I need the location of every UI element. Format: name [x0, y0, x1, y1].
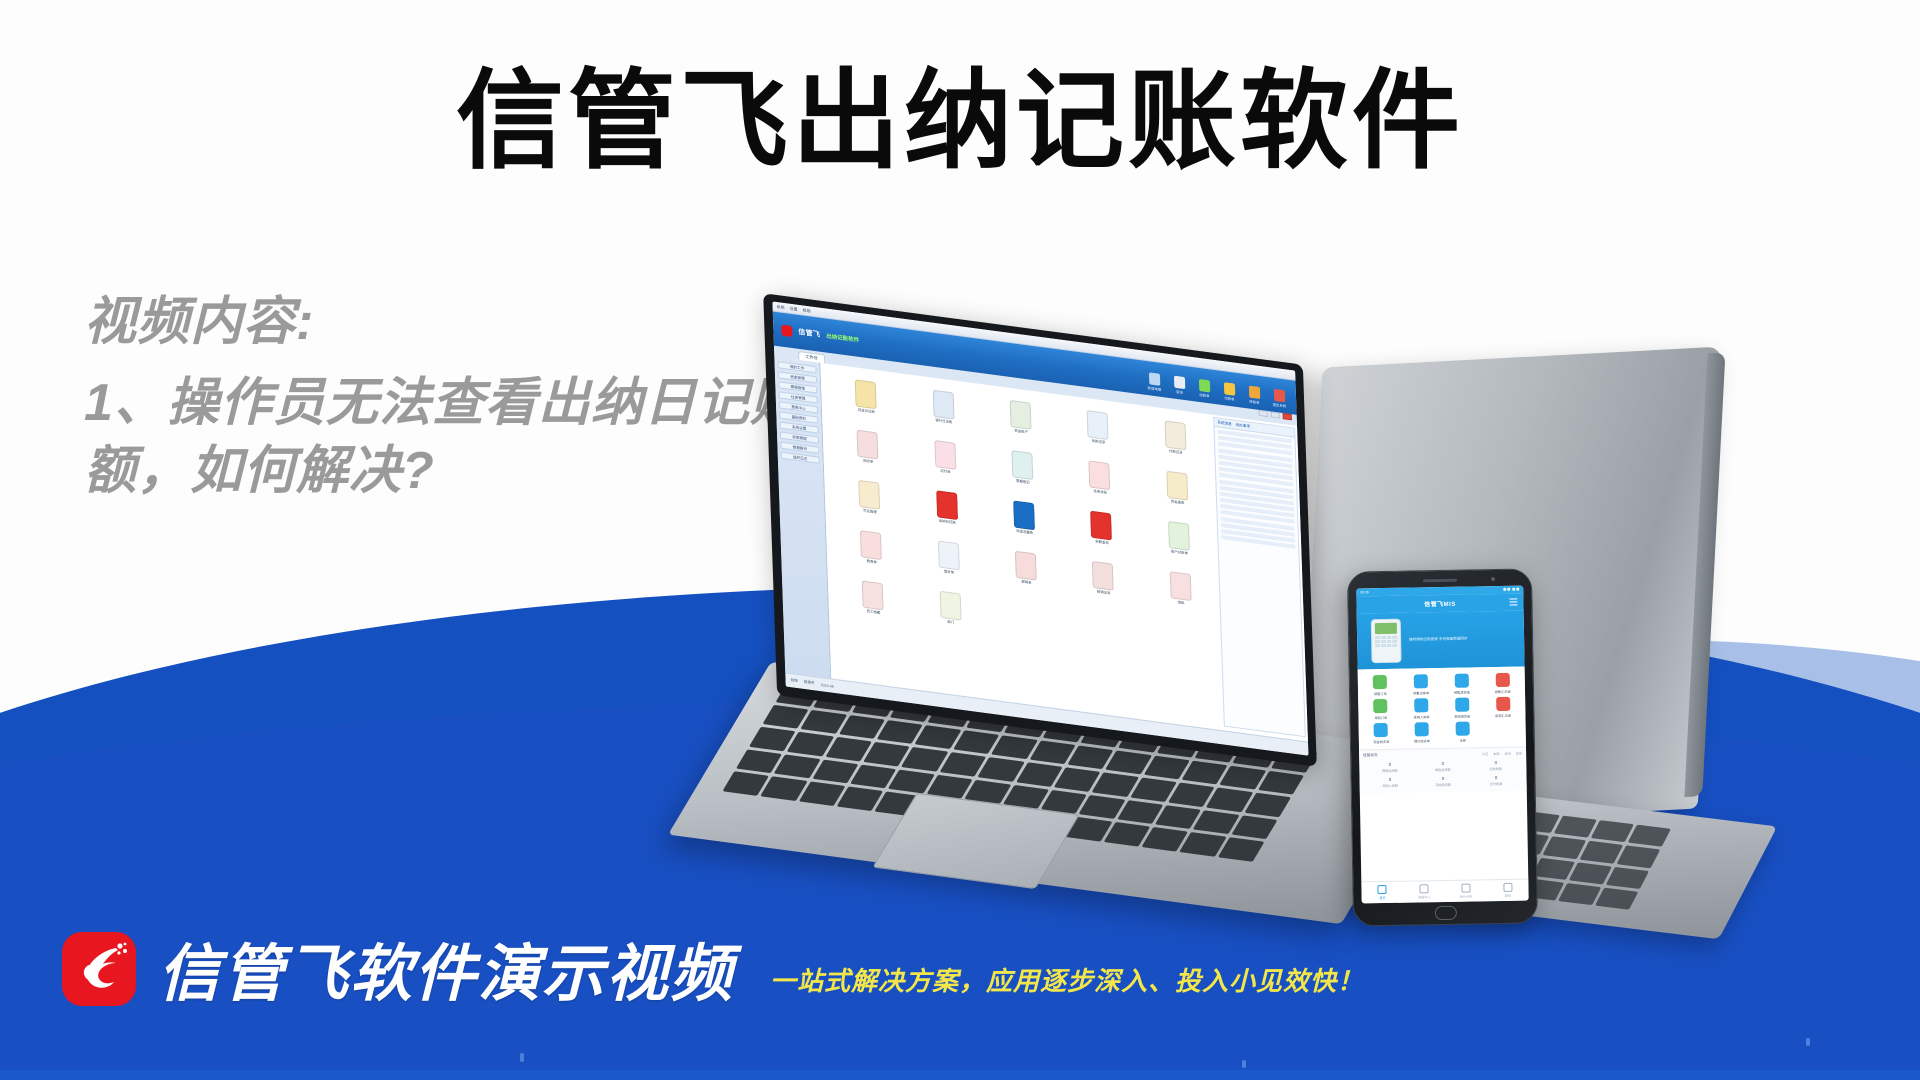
laptop-front: 系统 设置 帮助 信管飞 出纳记账软件: [770, 330, 1410, 890]
stat-label: 应收账款: [1469, 766, 1522, 772]
module-icon: [1496, 697, 1510, 711]
phone-module-tile[interactable]: 现金收支单: [1361, 723, 1402, 745]
nav-item-profile[interactable]: 我的: [1487, 883, 1529, 899]
stat-label: 采购入库额: [1364, 782, 1417, 788]
bottom-accent-band: [0, 1070, 1920, 1080]
stats-title: 经营状况: [1363, 753, 1377, 758]
module-label: 现金收支单: [1361, 739, 1402, 745]
module-icon: [1092, 561, 1114, 591]
module-tile[interactable]: 员工档案: [836, 577, 911, 633]
toolbar-button[interactable]: 收款单: [1197, 379, 1212, 399]
module-label: 采购入库单: [1401, 714, 1442, 720]
filter-option[interactable]: 本周: [1493, 752, 1499, 756]
nav-label: 统计分析: [1460, 895, 1472, 899]
module-icon: [936, 490, 958, 520]
module-icon: [934, 440, 956, 470]
app-main-area: 新增单据 查询 收款单: [820, 363, 1308, 742]
sparkle-dot: [1242, 1060, 1246, 1068]
user-icon: [1503, 883, 1512, 892]
module-tile[interactable]: 银行日记账: [906, 386, 981, 442]
module-tile[interactable]: 部门: [913, 587, 988, 643]
sidebar-item[interactable]: 操作日志: [781, 452, 820, 464]
hamburger-icon[interactable]: [1509, 597, 1517, 608]
module-icon: [937, 540, 959, 570]
payment-icon: [1223, 382, 1234, 396]
app-subtitle: 出纳记账软件: [826, 332, 859, 344]
stat-cell: 0采购入库额: [1364, 776, 1417, 788]
app-notification-panel[interactable]: 系统消息 待办事项: [1213, 417, 1306, 737]
filter-option[interactable]: 本年: [1516, 752, 1522, 756]
sparkle-dot: [520, 1053, 524, 1062]
stats-filters[interactable]: 今日 本周 本月 本年: [1478, 751, 1522, 757]
phone-module-tile[interactable]: 销售出库单: [1400, 674, 1441, 696]
filter-option[interactable]: 本月: [1504, 752, 1510, 756]
phone-bottom-nav[interactable]: 首页 单据中心 统计分析 我的: [1361, 879, 1528, 904]
module-icon: [1495, 673, 1509, 687]
brand-name: 信管飞软件演示视频: [158, 944, 734, 1006]
app-module-grid[interactable]: 现金日记账 银行日记账 资金账户 收款记录 付款记录 应收单 应付单 票据登记 …: [829, 372, 1222, 726]
maximize-icon[interactable]: [1271, 411, 1280, 418]
module-tile[interactable]: 现金流量表: [987, 497, 1062, 553]
phone-module-tile[interactable]: 银行收支单: [1401, 722, 1442, 744]
module-tile[interactable]: 现金日记账: [829, 376, 904, 432]
search-icon: [1173, 376, 1184, 390]
phone-app-title: 信管飞MIS: [1424, 599, 1456, 609]
module-label: 销售订单: [1360, 691, 1401, 697]
status-user: 管理员: [804, 680, 815, 686]
phone-module-tile[interactable]: 销售订单: [1360, 675, 1401, 697]
status-period: 2023-06: [820, 683, 833, 689]
module-icon: [857, 430, 879, 460]
stat-cell: 0应付账款: [1469, 775, 1522, 787]
module-label: 银行收支单: [1402, 738, 1443, 744]
phone-banner: 随时随地记账查账 手机电脑数据同步: [1357, 611, 1525, 670]
module-icon: [932, 390, 954, 420]
phone-stats-section: 经营状况 今日 本周 本月 本年 0销售出库额 0销售退货额 0应收账款 0采购…: [1359, 747, 1527, 794]
module-tile[interactable]: 费用单: [834, 527, 909, 583]
module-label: 全部: [1442, 737, 1483, 743]
phone-app-header: 信管飞MIS: [1356, 594, 1523, 614]
module-icon: [1166, 471, 1188, 501]
module-label: 采购汇总表: [1483, 713, 1524, 719]
phone-speaker: [1423, 579, 1457, 583]
module-icon: [1090, 511, 1112, 541]
module-icon: [1087, 410, 1109, 440]
stat-value: 0: [1469, 775, 1522, 781]
nav-label: 我的: [1505, 894, 1511, 898]
phone-module-grid[interactable]: 销售订单 销售出库单 销售退货单 销售汇总表 采购订单 采购入库单 采购退货单 …: [1358, 667, 1526, 750]
phone-module-tile[interactable]: 销售退货单: [1441, 673, 1482, 695]
phone-module-tile[interactable]: 采购入库单: [1401, 698, 1442, 720]
module-icon: [1164, 420, 1186, 450]
phone-module-tile[interactable]: 采购退货单: [1442, 697, 1483, 719]
module-tile[interactable]: 付款记录: [1138, 417, 1213, 473]
stat-label: 销售退货额: [1416, 767, 1469, 773]
stat-value: 0: [1469, 760, 1522, 766]
banner-phone-illustration: [1371, 619, 1402, 664]
app-title: 信管飞: [798, 327, 820, 340]
exit-icon: [1273, 389, 1284, 403]
stat-label: 应付账款: [1470, 781, 1523, 787]
module-icon: [1011, 450, 1033, 480]
status-time: 09:36: [1360, 590, 1369, 594]
notification-tab[interactable]: 系统消息: [1217, 420, 1232, 427]
desktop-app-window: 系统 设置 帮助 信管飞 出纳记账软件: [772, 301, 1308, 755]
nav-item-home[interactable]: 首页: [1361, 885, 1403, 901]
module-icon: [1089, 460, 1111, 490]
app-menu-item[interactable]: 系统: [776, 303, 784, 310]
notification-tab[interactable]: 待办事项: [1236, 422, 1251, 429]
module-icon: [1015, 551, 1037, 581]
module-label: 销售出库单: [1401, 690, 1442, 696]
module-tile[interactable]: 应付单: [908, 436, 983, 492]
module-tile[interactable]: 凭证管理: [832, 476, 907, 532]
module-label: 销售汇总表: [1482, 689, 1523, 695]
page-title: 信管飞出纳记账软件: [0, 62, 1920, 181]
module-tile[interactable]: 结账: [1143, 568, 1218, 624]
module-tile[interactable]: 资金报表: [1140, 467, 1215, 523]
stat-cell: 0销售退货额: [1416, 761, 1469, 773]
phone-camera: [1491, 577, 1495, 581]
receipt-icon: [1198, 379, 1209, 393]
phone-screen: 09:36 信管飞MIS 随时随地记账查账 手机电脑数据同步 销售订单: [1356, 586, 1528, 904]
banner-text: 随时随地记账查账 手机电脑数据同步: [1409, 637, 1468, 643]
module-icon: [939, 591, 961, 621]
stat-value: 0: [1416, 761, 1469, 767]
phone-module-tile[interactable]: 采购汇总表: [1482, 697, 1523, 719]
module-tile[interactable]: 往来对账: [1063, 457, 1138, 513]
module-icon: [855, 379, 877, 409]
notification-list[interactable]: [1214, 427, 1298, 551]
module-icon: [1373, 675, 1387, 689]
laptop-screen: 系统 设置 帮助 信管飞 出纳记账软件: [772, 301, 1308, 755]
app-menu-item[interactable]: 设置: [789, 305, 797, 312]
document-icon: [1420, 884, 1429, 893]
module-tile[interactable]: 收款记录: [1061, 407, 1136, 463]
module-tile[interactable]: 核销记录: [1066, 557, 1141, 613]
module-tile[interactable]: 资金账户: [983, 396, 1058, 452]
module-icon: [1374, 699, 1388, 713]
module-icon: [1010, 400, 1032, 430]
module-tile[interactable]: 账户对账单: [1142, 517, 1217, 573]
nav-item-analytics[interactable]: 统计分析: [1445, 883, 1487, 899]
toolbar-button[interactable]: 新增单据: [1147, 372, 1162, 392]
minimize-icon[interactable]: [1259, 410, 1268, 417]
toolbar-button[interactable]: 转账单: [1247, 385, 1262, 405]
stat-cell: 0销售出库额: [1363, 761, 1416, 773]
module-tile[interactable]: 出纳日记账: [910, 487, 985, 543]
brand-tagline: 一站式解决方案，应用逐步深入、投入小见效快！: [770, 961, 1364, 1006]
stat-cell: 0采购退货额: [1417, 776, 1470, 788]
slide-canvas: 信管飞出纳记账软件 视频内容: 1、操作员无法查看出纳日记账资金账户余 额，如何…: [0, 0, 1920, 1080]
filter-option[interactable]: 今日: [1482, 752, 1488, 756]
module-tile[interactable]: 票据登记: [985, 447, 1060, 503]
phone-module-tile[interactable]: 销售汇总表: [1482, 673, 1523, 695]
stat-value: 0: [1363, 761, 1416, 767]
laptop-front-lid: 系统 设置 帮助 信管飞 出纳记账软件: [763, 293, 1317, 767]
stat-value: 0: [1364, 776, 1417, 782]
transfer-icon: [1248, 385, 1259, 399]
module-icon: [1013, 500, 1035, 530]
module-label: 销售退货单: [1441, 689, 1482, 695]
new-doc-icon: [1148, 372, 1159, 386]
grid-all-icon: [1455, 722, 1469, 736]
status-icons: [1501, 588, 1519, 592]
module-label: 采购退货单: [1442, 713, 1483, 719]
module-icon: [1415, 722, 1429, 736]
bird-flame-logo-icon: [62, 932, 136, 1006]
stat-label: 采购退货额: [1417, 782, 1470, 788]
module-tile[interactable]: 应收单: [830, 426, 905, 482]
module-icon: [858, 480, 880, 510]
home-icon: [1378, 885, 1387, 894]
smartphone: 09:36 信管飞MIS 随时随地记账查账 手机电脑数据同步 销售订单: [1347, 568, 1538, 926]
stat-value: 0: [1417, 776, 1470, 782]
nav-label: 单据中心: [1418, 895, 1430, 899]
module-tile[interactable]: 借支单: [911, 537, 986, 593]
module-icon: [1414, 698, 1428, 712]
toolbar-button[interactable]: 查询: [1172, 375, 1187, 395]
module-icon: [860, 530, 882, 560]
app-menu-item[interactable]: 帮助: [802, 307, 810, 314]
stats-grid: 0销售出库额 0销售退货额 0应收账款 0采购入库额 0采购退货额 0应付账款: [1363, 756, 1523, 794]
toolbar-button[interactable]: 付款单: [1222, 382, 1237, 402]
module-tile[interactable]: 余额查询: [1064, 507, 1139, 563]
module-icon: [1374, 723, 1388, 737]
sparkle-dot: [1806, 1038, 1810, 1046]
module-icon: [1455, 674, 1469, 688]
stat-cell: 0应收账款: [1469, 760, 1522, 772]
toolbar-button[interactable]: 退出系统: [1272, 389, 1287, 409]
module-icon: [1414, 674, 1428, 688]
module-icon: [1170, 571, 1192, 601]
close-icon[interactable]: [1283, 413, 1292, 420]
nav-item-documents[interactable]: 单据中心: [1403, 884, 1445, 900]
brand-bar: 信管飞软件演示视频 一站式解决方案，应用逐步深入、投入小见效快！: [62, 932, 1364, 1006]
device-showcase: 系统 设置 帮助 信管飞 出纳记账软件: [880, 370, 1920, 990]
phone-module-tile[interactable]: 全部: [1442, 721, 1483, 743]
module-icon: [862, 580, 884, 610]
chart-icon: [1461, 884, 1470, 893]
module-label: 采购订单: [1360, 715, 1401, 721]
stat-label: 销售出库额: [1363, 767, 1416, 773]
status-text: 就绪: [790, 678, 797, 684]
phone-module-tile[interactable]: 采购订单: [1360, 699, 1401, 721]
module-icon: [1168, 521, 1190, 551]
module-icon: [1455, 698, 1469, 712]
phone-home-button[interactable]: [1434, 906, 1456, 920]
app-logo-icon: [781, 324, 792, 337]
nav-label: 首页: [1379, 896, 1385, 900]
module-tile[interactable]: 报销单: [989, 547, 1064, 603]
